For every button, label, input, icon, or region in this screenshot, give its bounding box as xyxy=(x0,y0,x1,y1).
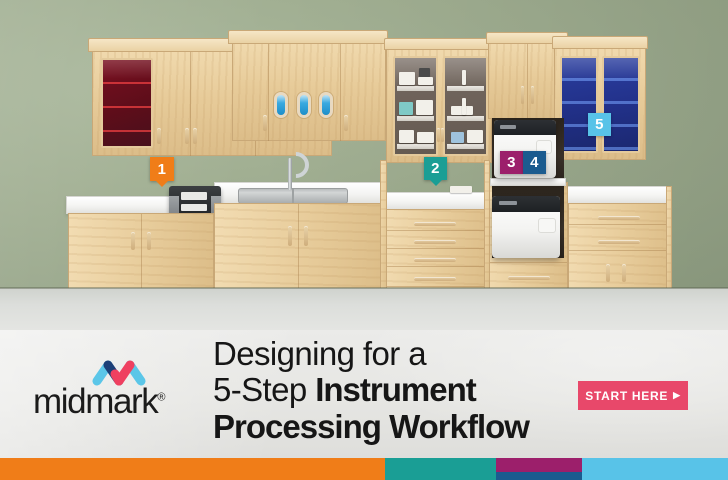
cabinet-handle[interactable] xyxy=(288,226,292,246)
cabinet-handle[interactable] xyxy=(437,128,440,142)
color-segment-light-blue xyxy=(582,458,728,480)
operatory-photo: 1 2 3 4 5 xyxy=(0,0,728,330)
countertop-prep xyxy=(384,192,488,210)
drawer-seam xyxy=(385,266,487,267)
supply-bin xyxy=(417,132,434,143)
cabinet-handle[interactable] xyxy=(304,226,308,246)
step-badge-1[interactable]: 1 xyxy=(150,157,174,181)
drawer-seam xyxy=(385,230,487,231)
supply-bin xyxy=(399,130,414,143)
step-badge-2-number: 2 xyxy=(431,160,440,177)
countertop-right xyxy=(560,186,670,204)
cabinet-handle[interactable] xyxy=(441,128,444,142)
cabinet-handle[interactable] xyxy=(344,115,348,131)
step-badge-2[interactable]: 2 xyxy=(424,157,447,180)
glass-door-left[interactable] xyxy=(393,56,438,156)
color-segment-magenta xyxy=(496,458,582,472)
cabinet-handle[interactable] xyxy=(521,86,524,104)
shelf xyxy=(447,116,484,121)
cabinet-handle[interactable] xyxy=(622,264,626,282)
cabinet-handle[interactable] xyxy=(147,232,151,250)
headline-line-2-light: 5-Step xyxy=(213,371,315,408)
sterilizer-lower-unit xyxy=(492,196,560,258)
cta-label: START HERE xyxy=(585,389,668,403)
upper-cabinet-center-body xyxy=(232,43,386,141)
registered-mark: ® xyxy=(157,391,165,403)
headline-line-3: Processing Workflow xyxy=(213,409,573,445)
supply-bin xyxy=(451,132,464,143)
supply-bin xyxy=(399,102,413,115)
bottom-color-bar xyxy=(0,458,728,480)
step-badge-1-number: 1 xyxy=(158,161,167,178)
start-here-button[interactable]: START HERE ▶ xyxy=(578,381,688,410)
shelf xyxy=(397,86,434,91)
sink-divider xyxy=(292,189,294,203)
badge-pointer xyxy=(430,180,442,186)
banner-ad: 1 2 3 4 5 xyxy=(0,0,728,480)
headline-line-1: Designing for a xyxy=(213,336,573,372)
step-badge-4-number: 4 xyxy=(530,154,539,171)
drawer-seam xyxy=(385,248,487,249)
drawer-pull[interactable] xyxy=(598,216,640,220)
step-badge-3-number: 3 xyxy=(507,154,516,171)
headline-block: Designing for a 5-Step Instrument Proces… xyxy=(213,336,573,445)
shelf xyxy=(397,144,434,149)
step-badge-5[interactable]: 5 xyxy=(588,113,611,136)
drawer-seam xyxy=(569,224,669,225)
supply-bin xyxy=(418,77,433,85)
cabinet-handle[interactable] xyxy=(157,128,161,144)
badge-pointer xyxy=(156,181,168,187)
supply-item xyxy=(419,68,430,77)
supply-bin xyxy=(467,130,483,143)
headline-line-2-bold: Instrument xyxy=(315,371,476,408)
cabinet-seam xyxy=(527,44,528,119)
dispenser-bottle xyxy=(300,95,308,115)
midmark-logo[interactable]: midmark® xyxy=(33,358,183,420)
sterilizer-door-handle[interactable] xyxy=(538,218,556,233)
drawer-seam xyxy=(489,262,567,263)
shelf xyxy=(447,86,484,91)
color-segment-orange xyxy=(0,458,385,480)
step-badge-4[interactable]: 4 xyxy=(523,151,546,174)
cabinet-seam xyxy=(190,52,191,156)
upper-cabinet-red-glass-door xyxy=(101,58,153,148)
supply-bin xyxy=(399,72,415,85)
cabinet-handle[interactable] xyxy=(193,128,197,144)
supply-bin xyxy=(462,70,466,85)
supply-bin xyxy=(462,98,466,115)
shelf xyxy=(447,144,484,149)
cabinet-seam xyxy=(268,44,269,141)
sterilizer-led-display xyxy=(499,201,517,205)
cabinet-handle[interactable] xyxy=(131,232,135,250)
glass-door-right[interactable] xyxy=(443,56,488,156)
drawer-pull[interactable] xyxy=(414,277,456,281)
cabinet-handle[interactable] xyxy=(185,128,189,144)
floor xyxy=(0,288,728,330)
sterilizer-led-display xyxy=(500,125,516,129)
supply-bin xyxy=(416,100,433,115)
cleaner-display xyxy=(181,192,207,200)
cabinet-handle[interactable] xyxy=(531,86,534,104)
color-segment-navy xyxy=(496,472,582,480)
step-badge-5-number: 5 xyxy=(595,116,604,133)
play-arrow-icon: ▶ xyxy=(673,390,681,401)
shelf xyxy=(397,116,434,121)
step-badge-3[interactable]: 3 xyxy=(500,151,523,174)
cabinet-handle[interactable] xyxy=(263,115,267,131)
cabinet-handle[interactable] xyxy=(606,264,610,282)
tray-on-counter xyxy=(450,186,472,193)
blue-glass-door-right[interactable] xyxy=(602,56,640,153)
midmark-wordmark: midmark® xyxy=(33,384,183,419)
dispenser-bottle xyxy=(322,95,330,115)
color-segment-teal xyxy=(385,458,496,480)
drawer-pull[interactable] xyxy=(414,258,456,262)
headline-line-2: 5-Step Instrument xyxy=(213,372,573,408)
floor-wall-joint xyxy=(0,287,728,289)
dispenser-bottle xyxy=(277,95,285,115)
drawer-pull[interactable] xyxy=(508,276,550,280)
drawer-seam xyxy=(569,250,669,251)
cabinet-seam xyxy=(340,44,341,141)
drawer-pull[interactable] xyxy=(414,222,456,226)
drawer-pull[interactable] xyxy=(598,240,640,244)
wordmark-text: midmark xyxy=(33,382,157,421)
upper-cabinet-center-top xyxy=(228,30,388,44)
sterilizer-shelf xyxy=(490,178,566,186)
cleaner-panel xyxy=(181,204,207,211)
drawer-pull[interactable] xyxy=(414,240,456,244)
blue-glass-door-left[interactable] xyxy=(560,56,598,153)
color-segment-magenta-navy xyxy=(496,458,582,480)
